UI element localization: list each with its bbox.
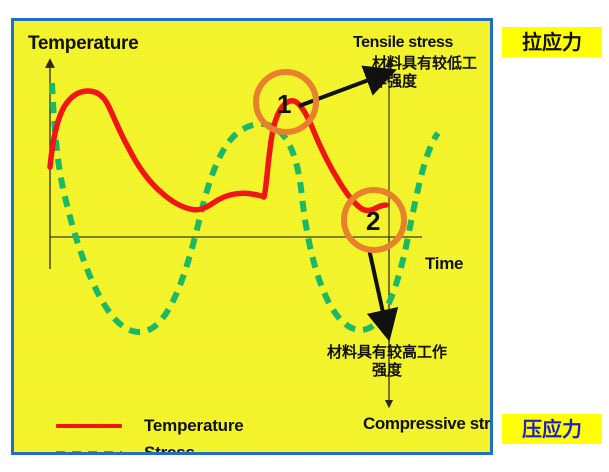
legend-swatch-temperature-icon bbox=[56, 419, 122, 433]
series-temperature-curve bbox=[50, 91, 386, 211]
annotation-arrow-2 bbox=[369, 249, 386, 326]
badge-tensile-stress: 拉应力 bbox=[502, 27, 602, 57]
legend-label-temperature: Temperature bbox=[144, 416, 244, 436]
legend-item-temperature: Temperature bbox=[56, 412, 244, 439]
marker-label-2: 2 bbox=[366, 206, 380, 237]
y-axis-right-top-label: Tensile stress bbox=[353, 35, 453, 52]
badge-compressive-stress: 压应力 bbox=[502, 414, 602, 444]
y-axis-left-label: Temperature bbox=[28, 34, 138, 54]
marker-label-1: 1 bbox=[277, 89, 291, 120]
legend-item-stress: Stress bbox=[56, 439, 244, 455]
annotation-bottom-cjk: 材料具有较高工作强度 bbox=[324, 343, 450, 380]
legend-label-stress: Stress bbox=[144, 443, 195, 456]
chart-legend: Temperature Stress bbox=[56, 412, 244, 455]
y-axis-right-bottom-label: Compressive stress bbox=[363, 414, 493, 434]
x-axis-label: Time bbox=[425, 255, 463, 273]
legend-swatch-stress-icon bbox=[56, 446, 122, 456]
chart-panel: Temperature Tensile stress Time Compress… bbox=[11, 18, 493, 455]
annotation-top-cjk: 材料具有较低工作强度 bbox=[372, 54, 484, 91]
